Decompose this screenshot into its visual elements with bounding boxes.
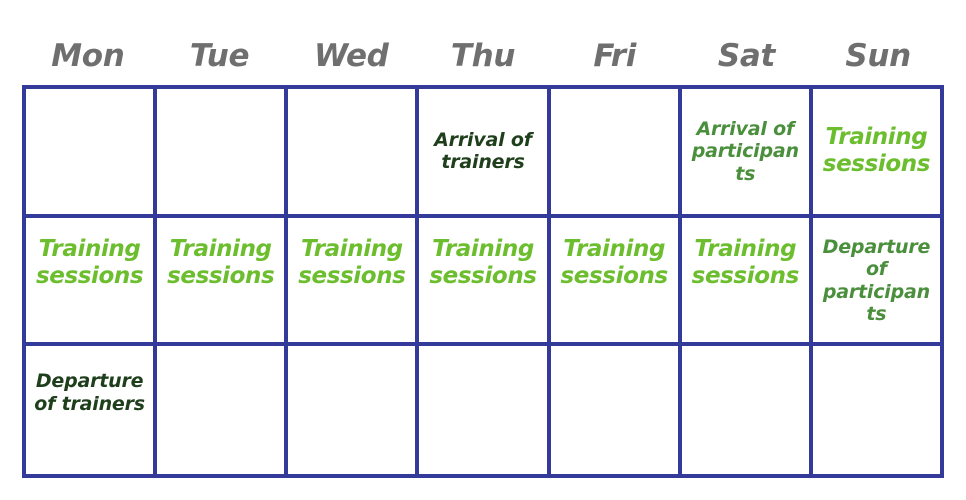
- calendar-cell-fri-1[interactable]: [547, 89, 678, 214]
- calendar-cell-thu-3[interactable]: [415, 346, 546, 474]
- calendar-row: Departure of trainers: [26, 342, 940, 474]
- calendar-cell-sun-1[interactable]: Training sessions: [809, 89, 940, 214]
- weekday-label-sat: Sat: [681, 41, 813, 76]
- cell-entry: Arrival of participants: [688, 118, 803, 185]
- calendar-cell-thu-1[interactable]: Arrival of trainers: [415, 89, 546, 214]
- calendar-cell-thu-2[interactable]: Training sessions: [415, 218, 546, 343]
- calendar-cell-tue-3[interactable]: [153, 346, 284, 474]
- cell-entry: Departure of trainers: [32, 370, 147, 415]
- calendar-cell-tue-1[interactable]: [153, 89, 284, 214]
- training-week-schedule: Mon Tue Wed Thu Fri Sat Sun Arrival of t…: [0, 0, 966, 500]
- cell-entry: Departure of participants: [819, 236, 934, 326]
- weekday-label-tue: Tue: [154, 41, 286, 76]
- calendar-cell-sat-2[interactable]: Training sessions: [678, 218, 809, 343]
- calendar-cell-mon-3[interactable]: Departure of trainers: [26, 346, 153, 474]
- weekday-header-row: Mon Tue Wed Thu Fri Sat Sun: [22, 18, 944, 76]
- cell-entry: Training sessions: [163, 236, 278, 290]
- calendar-cell-mon-2[interactable]: Training sessions: [26, 218, 153, 343]
- cell-entry: Training sessions: [688, 236, 803, 290]
- calendar-row: Training sessions Training sessions Trai…: [26, 214, 940, 343]
- cell-entry: Arrival of trainers: [425, 129, 540, 174]
- calendar-cell-sun-2[interactable]: Departure of participants: [809, 218, 940, 343]
- cell-entry: Training sessions: [557, 236, 672, 290]
- calendar-cell-fri-3[interactable]: [547, 346, 678, 474]
- cell-entry: Training sessions: [32, 236, 147, 290]
- cell-entry: Training sessions: [425, 236, 540, 290]
- calendar-cell-fri-2[interactable]: Training sessions: [547, 218, 678, 343]
- calendar-row: Arrival of trainers Arrival of participa…: [26, 89, 940, 214]
- calendar-cell-mon-1[interactable]: [26, 89, 153, 214]
- calendar-grid: Arrival of trainers Arrival of participa…: [22, 85, 944, 478]
- weekday-label-thu: Thu: [417, 41, 549, 76]
- calendar-cell-wed-1[interactable]: [284, 89, 415, 214]
- cell-entry: Training sessions: [819, 124, 934, 178]
- calendar-cell-sat-3[interactable]: [678, 346, 809, 474]
- calendar-cell-wed-2[interactable]: Training sessions: [284, 218, 415, 343]
- cell-entry: Training sessions: [294, 236, 409, 290]
- calendar-cell-tue-2[interactable]: Training sessions: [153, 218, 284, 343]
- calendar-cell-wed-3[interactable]: [284, 346, 415, 474]
- calendar-cell-sun-3[interactable]: [809, 346, 940, 474]
- weekday-label-fri: Fri: [549, 41, 681, 76]
- weekday-label-sun: Sun: [812, 41, 944, 76]
- weekday-label-wed: Wed: [285, 41, 417, 76]
- weekday-label-mon: Mon: [22, 41, 154, 76]
- calendar-cell-sat-1[interactable]: Arrival of participants: [678, 89, 809, 214]
